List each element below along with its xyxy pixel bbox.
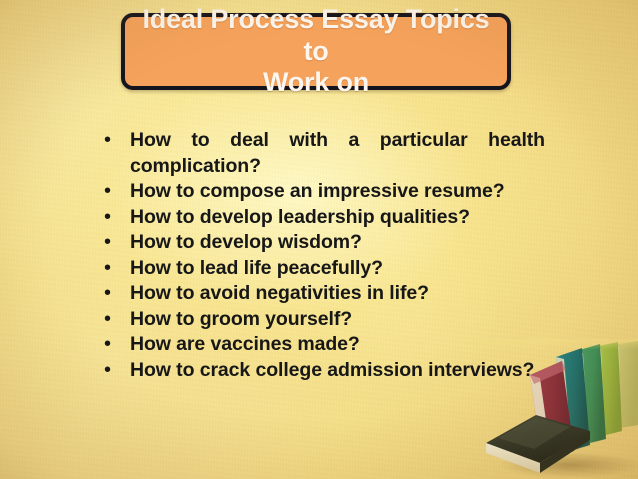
list-item: • How to develop leadership qualities?	[100, 205, 545, 231]
bullet-icon: •	[100, 128, 130, 154]
bullet-icon: •	[100, 179, 130, 205]
bullet-icon: •	[100, 358, 130, 384]
list-item-label: How to deal with a particular health com…	[130, 128, 545, 179]
list-item: • How to develop wisdom?	[100, 230, 545, 256]
bullet-icon: •	[100, 205, 130, 231]
page-title: Ideal Process Essay Topics to Work on	[135, 4, 497, 100]
title-line-1: Ideal Process Essay Topics to	[143, 4, 490, 66]
list-item-label: How to lead life peacefully?	[130, 256, 545, 282]
list-item: • How to lead life peacefully?	[100, 256, 545, 282]
list-item-label: How to avoid negativities in life?	[130, 281, 545, 307]
bullet-list: • How to deal with a particular health c…	[100, 128, 545, 383]
list-item: • How to deal with a particular health c…	[100, 128, 545, 179]
list-item-label: How to compose an impressive resume?	[130, 179, 545, 205]
list-item: • How to compose an impressive resume?	[100, 179, 545, 205]
list-item-label: How to groom yourself?	[130, 307, 545, 333]
list-item: • How to avoid negativities in life?	[100, 281, 545, 307]
bullet-icon: •	[100, 281, 130, 307]
bullet-icon: •	[100, 307, 130, 333]
title-box: Ideal Process Essay Topics to Work on	[121, 13, 511, 90]
list-item: • How are vaccines made?	[100, 332, 545, 358]
list-item-label: How to develop leadership qualities?	[130, 205, 545, 231]
slide-canvas: Ideal Process Essay Topics to Work on • …	[0, 0, 638, 479]
bullet-icon: •	[100, 332, 130, 358]
list-item-label: How are vaccines made?	[130, 332, 545, 358]
bullet-icon: •	[100, 230, 130, 256]
list-item: • How to crack college admission intervi…	[100, 358, 545, 384]
list-item-label: How to crack college admission interview…	[130, 358, 545, 384]
list-item-label: How to develop wisdom?	[130, 230, 545, 256]
list-item: • How to groom yourself?	[100, 307, 545, 333]
bullet-icon: •	[100, 256, 130, 282]
title-line-2: Work on	[263, 67, 369, 97]
